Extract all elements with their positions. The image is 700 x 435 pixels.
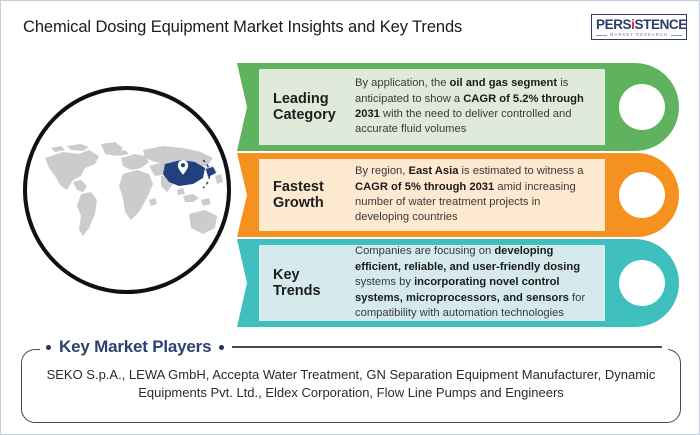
logo-word-part2: STENCE bbox=[635, 17, 687, 32]
card-end-cap bbox=[605, 153, 679, 237]
card-label-line1: Key bbox=[273, 267, 355, 283]
infographic-page: Chemical Dosing Equipment Market Insight… bbox=[0, 0, 700, 435]
card-left-notch bbox=[237, 239, 259, 327]
card-label-fastest-growth: Fastest Growth bbox=[259, 179, 355, 211]
persistence-market-research-logo: PERSiSTENCE MARKET RESEARCH bbox=[591, 14, 687, 41]
card-body-text-leading-category: By application, the oil and gas segment … bbox=[355, 76, 605, 138]
card-circle-hole bbox=[619, 84, 665, 130]
card-label-leading-category: Leading Category bbox=[259, 91, 355, 123]
card-key-trends[interactable]: Key Trends Companies are focusing on dev… bbox=[237, 239, 679, 327]
logo-word-part1: PERS bbox=[596, 17, 631, 32]
logo-subtitle: MARKET RESEARCH bbox=[610, 33, 668, 37]
key-market-players-heading: Key Market Players bbox=[59, 337, 211, 357]
card-body-text-fastest-growth: By region, East Asia is estimated to wit… bbox=[355, 164, 605, 226]
card-end-cap bbox=[605, 239, 679, 327]
logo-wordmark: PERSiSTENCE bbox=[596, 18, 682, 32]
card-left-notch bbox=[237, 153, 259, 237]
heading-dot-right-icon bbox=[219, 345, 224, 350]
key-market-players-heading-group: Key Market Players bbox=[40, 337, 668, 357]
card-leading-category[interactable]: Leading Category By application, the oil… bbox=[237, 63, 679, 151]
card-end-cap bbox=[605, 63, 679, 151]
card-fastest-growth[interactable]: Fastest Growth By region, East Asia is e… bbox=[237, 153, 679, 237]
heading-rule bbox=[232, 346, 662, 347]
card-content-panel: Fastest Growth By region, East Asia is e… bbox=[259, 159, 605, 231]
card-content-panel: Key Trends Companies are focusing on dev… bbox=[259, 245, 605, 321]
card-label-line2: Trends bbox=[273, 283, 355, 299]
card-body-text-key-trends: Companies are focusing on developing eff… bbox=[355, 244, 605, 321]
header: Chemical Dosing Equipment Market Insight… bbox=[1, 1, 700, 53]
card-circle-hole bbox=[619, 260, 665, 306]
page-title: Chemical Dosing Equipment Market Insight… bbox=[23, 18, 462, 37]
key-market-players-list: SEKO S.p.A., LEWA GmbH, Accepta Water Tr… bbox=[38, 366, 664, 403]
logo-rule-right bbox=[671, 35, 682, 36]
card-label-line1: Fastest bbox=[273, 179, 355, 195]
card-label-line1: Leading bbox=[273, 91, 355, 107]
heading-dot-left-icon bbox=[46, 345, 51, 350]
world-map-globe bbox=[23, 86, 231, 294]
card-label-key-trends: Key Trends bbox=[259, 267, 355, 299]
key-market-players-panel: Key Market Players SEKO S.p.A., LEWA Gmb… bbox=[21, 349, 681, 423]
logo-subtitle-row: MARKET RESEARCH bbox=[596, 33, 682, 37]
card-content-panel: Leading Category By application, the oil… bbox=[259, 69, 605, 145]
world-map-icon bbox=[37, 140, 227, 250]
logo-rule-left bbox=[596, 35, 607, 36]
card-circle-hole bbox=[619, 172, 665, 218]
card-label-line2: Growth bbox=[273, 195, 355, 211]
card-left-notch bbox=[237, 63, 259, 151]
card-label-line2: Category bbox=[273, 107, 355, 123]
